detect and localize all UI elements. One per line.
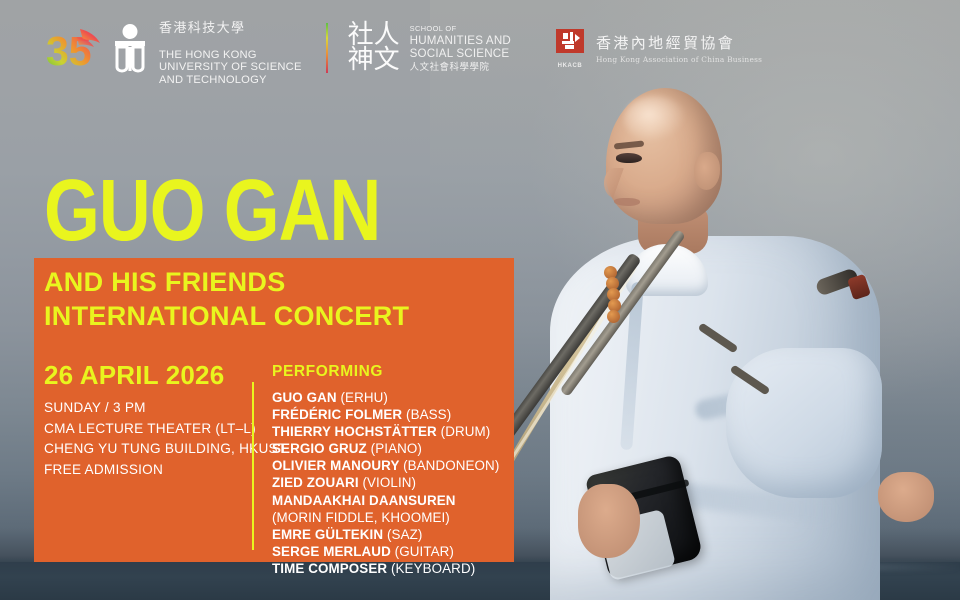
performer-instrument: (PIANO) [371,441,422,456]
hkacb-english-name: Hong Kong Association of China Business [596,55,762,64]
performer-instrument: (ERHU) [341,390,388,405]
performer-instrument: (MORIN FIDDLE, KHOOMEI) [272,510,450,525]
performer-name: THIERRY HOCHSTÄTTER [272,424,441,439]
musician-left-hand [578,484,640,558]
hkacb-abbreviation: HKACB [553,63,587,69]
performer-name: GUO GAN [272,390,341,405]
musician-sleeve [726,348,882,498]
performer-instrument: (BANDONEON) [403,458,499,473]
hkust-english-name: THE HONG KONG UNIVERSITY OF SCIENCE AND … [159,49,302,86]
logo-hkust-group: 35 香港科技大學 THE HONG KONG UNIVERSITY OF SC… [0,10,302,87]
performer-row: ZIED ZOUARI (VIOLIN) [272,474,502,491]
performer-name: EMRE GÜLTEKIN [272,527,387,542]
performer-name: TIME COMPOSER [272,561,391,576]
logo-hkacb-group: HKACB 香港內地經貿協會 Hong Kong Association of … [553,27,762,69]
performer-row: SERGE MERLAUD (GUITAR) [272,543,502,560]
performer-list: GUO GAN (ERHU)FRÉDÉRIC FOLMER (BASS)THIE… [272,389,502,577]
hss-calligraphy-icon: 社人 神文 [348,23,402,73]
sponsor-logo-bar: 35 香港科技大學 THE HONG KONG UNIVERSITY OF SC… [0,0,960,96]
performer-instrument: (BASS) [406,407,451,422]
logo-divider [326,23,328,73]
hkacb-wordmark: 香港內地經貿協會 Hong Kong Association of China … [596,32,762,64]
erhu-musician-photo [498,86,960,600]
performer-row: MANDAAKHAI DAANSUREN (MORIN FIDDLE, KHOO… [272,492,502,526]
head-highlight [624,96,686,142]
performer-row: OLIVIER MANOURY (BANDONEON) [272,457,502,474]
hss-wordmark: SCHOOL OF HUMANITIES AND SOCIAL SCIENCE … [410,23,511,74]
hss-line-social-science: SOCIAL SCIENCE [410,48,511,60]
event-date: 26 APRIL 2026 [44,362,224,388]
performer-name: MANDAAKHAI DAANSUREN [272,493,456,508]
performing-heading: PERFORMING [272,363,383,381]
musician-right-hand [878,472,934,522]
musician-eye [616,153,642,163]
performer-instrument: (DRUM) [441,424,491,439]
performer-name: SERGIO GRUZ [272,441,371,456]
vertical-divider [252,382,254,550]
musician-nose [604,168,626,198]
hkacb-logo-icon: HKACB [553,27,587,69]
hkust-wordmark: 香港科技大學 THE HONG KONG UNIVERSITY OF SCIEN… [159,10,302,87]
performer-instrument: (VIOLIN) [362,475,416,490]
performer-name: OLIVIER MANOURY [272,458,403,473]
event-details: SUNDAY / 3 PM CMA LECTURE THEATER (LT–L)… [44,398,286,480]
hkust-chinese-name: 香港科技大學 [159,22,302,35]
performer-row: SERGIO GRUZ (PIANO) [272,440,502,457]
performer-row: THIERRY HOCHSTÄTTER (DRUM) [272,423,502,440]
logo-humanities-group: 社人 神文 SCHOOL OF HUMANITIES AND SOCIAL SC… [348,23,511,74]
performer-row: FRÉDÉRIC FOLMER (BASS) [272,406,502,423]
hkust-shield-icon [110,23,150,73]
anniversary-35-icon: 35 [46,25,104,71]
performer-instrument: (GUITAR) [395,544,454,559]
hss-line-humanities: HUMANITIES AND [410,35,511,47]
subtitle: AND HIS FRIENDS INTERNATIONAL CONCERT [44,266,409,333]
concert-poster: 35 香港科技大學 THE HONG KONG UNIVERSITY OF SC… [0,0,960,600]
hss-chinese-name: 人文社會科學學院 [410,61,511,73]
performer-instrument: (SAZ) [387,527,422,542]
performer-row: GUO GAN (ERHU) [272,389,502,406]
musician-lip [614,198,640,206]
hkacb-chinese-name: 香港內地經貿協會 [596,32,762,53]
performer-name: FRÉDÉRIC FOLMER [272,407,406,422]
performer-instrument: (KEYBOARD) [391,561,475,576]
performer-row: EMRE GÜLTEKIN (SAZ) [272,526,502,543]
performer-name: SERGE MERLAUD [272,544,395,559]
page-title: GUO GAN [44,166,380,253]
performer-row: TIME COMPOSER (KEYBOARD) [272,560,502,577]
performer-name: ZIED ZOUARI [272,475,362,490]
